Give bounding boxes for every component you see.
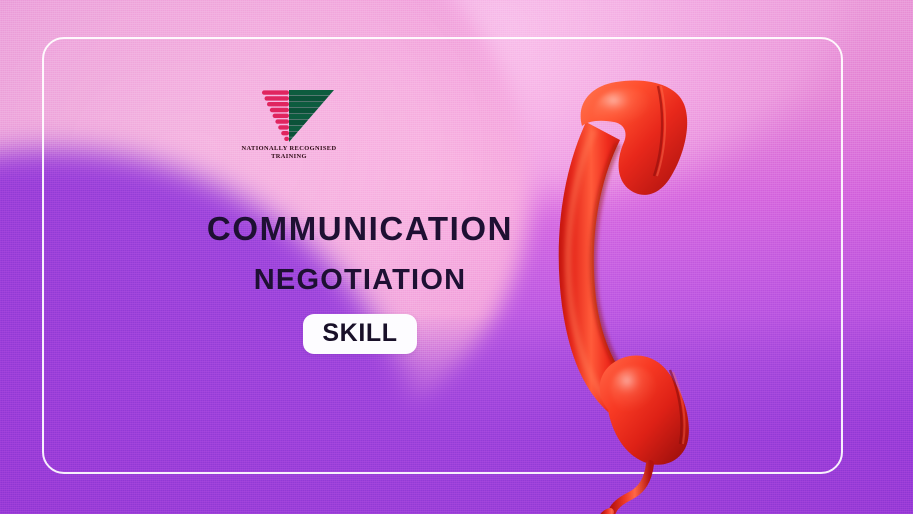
heading-communication: COMMUNICATION xyxy=(150,212,570,245)
logo-text-line-1: NATIONALLY RECOGNISED xyxy=(237,145,341,153)
headline-group: COMMUNICATION NEGOTIATION SKILL xyxy=(150,212,570,354)
skill-badge: SKILL xyxy=(303,314,416,354)
skill-badge-wrapper: SKILL xyxy=(150,314,570,354)
red-telephone-handset-image xyxy=(524,60,774,514)
nationally-recognised-training-logo: NATIONALLY RECOGNISED TRAINING xyxy=(237,90,341,168)
heading-negotiation: NEGOTIATION xyxy=(150,266,570,295)
handset-cord-lead xyxy=(612,464,650,512)
promo-banner: NATIONALLY RECOGNISED TRAINING COMMUNICA… xyxy=(0,0,913,514)
logo-triangle-icon xyxy=(244,90,334,142)
logo-text-line-2: TRAINING xyxy=(237,153,341,161)
